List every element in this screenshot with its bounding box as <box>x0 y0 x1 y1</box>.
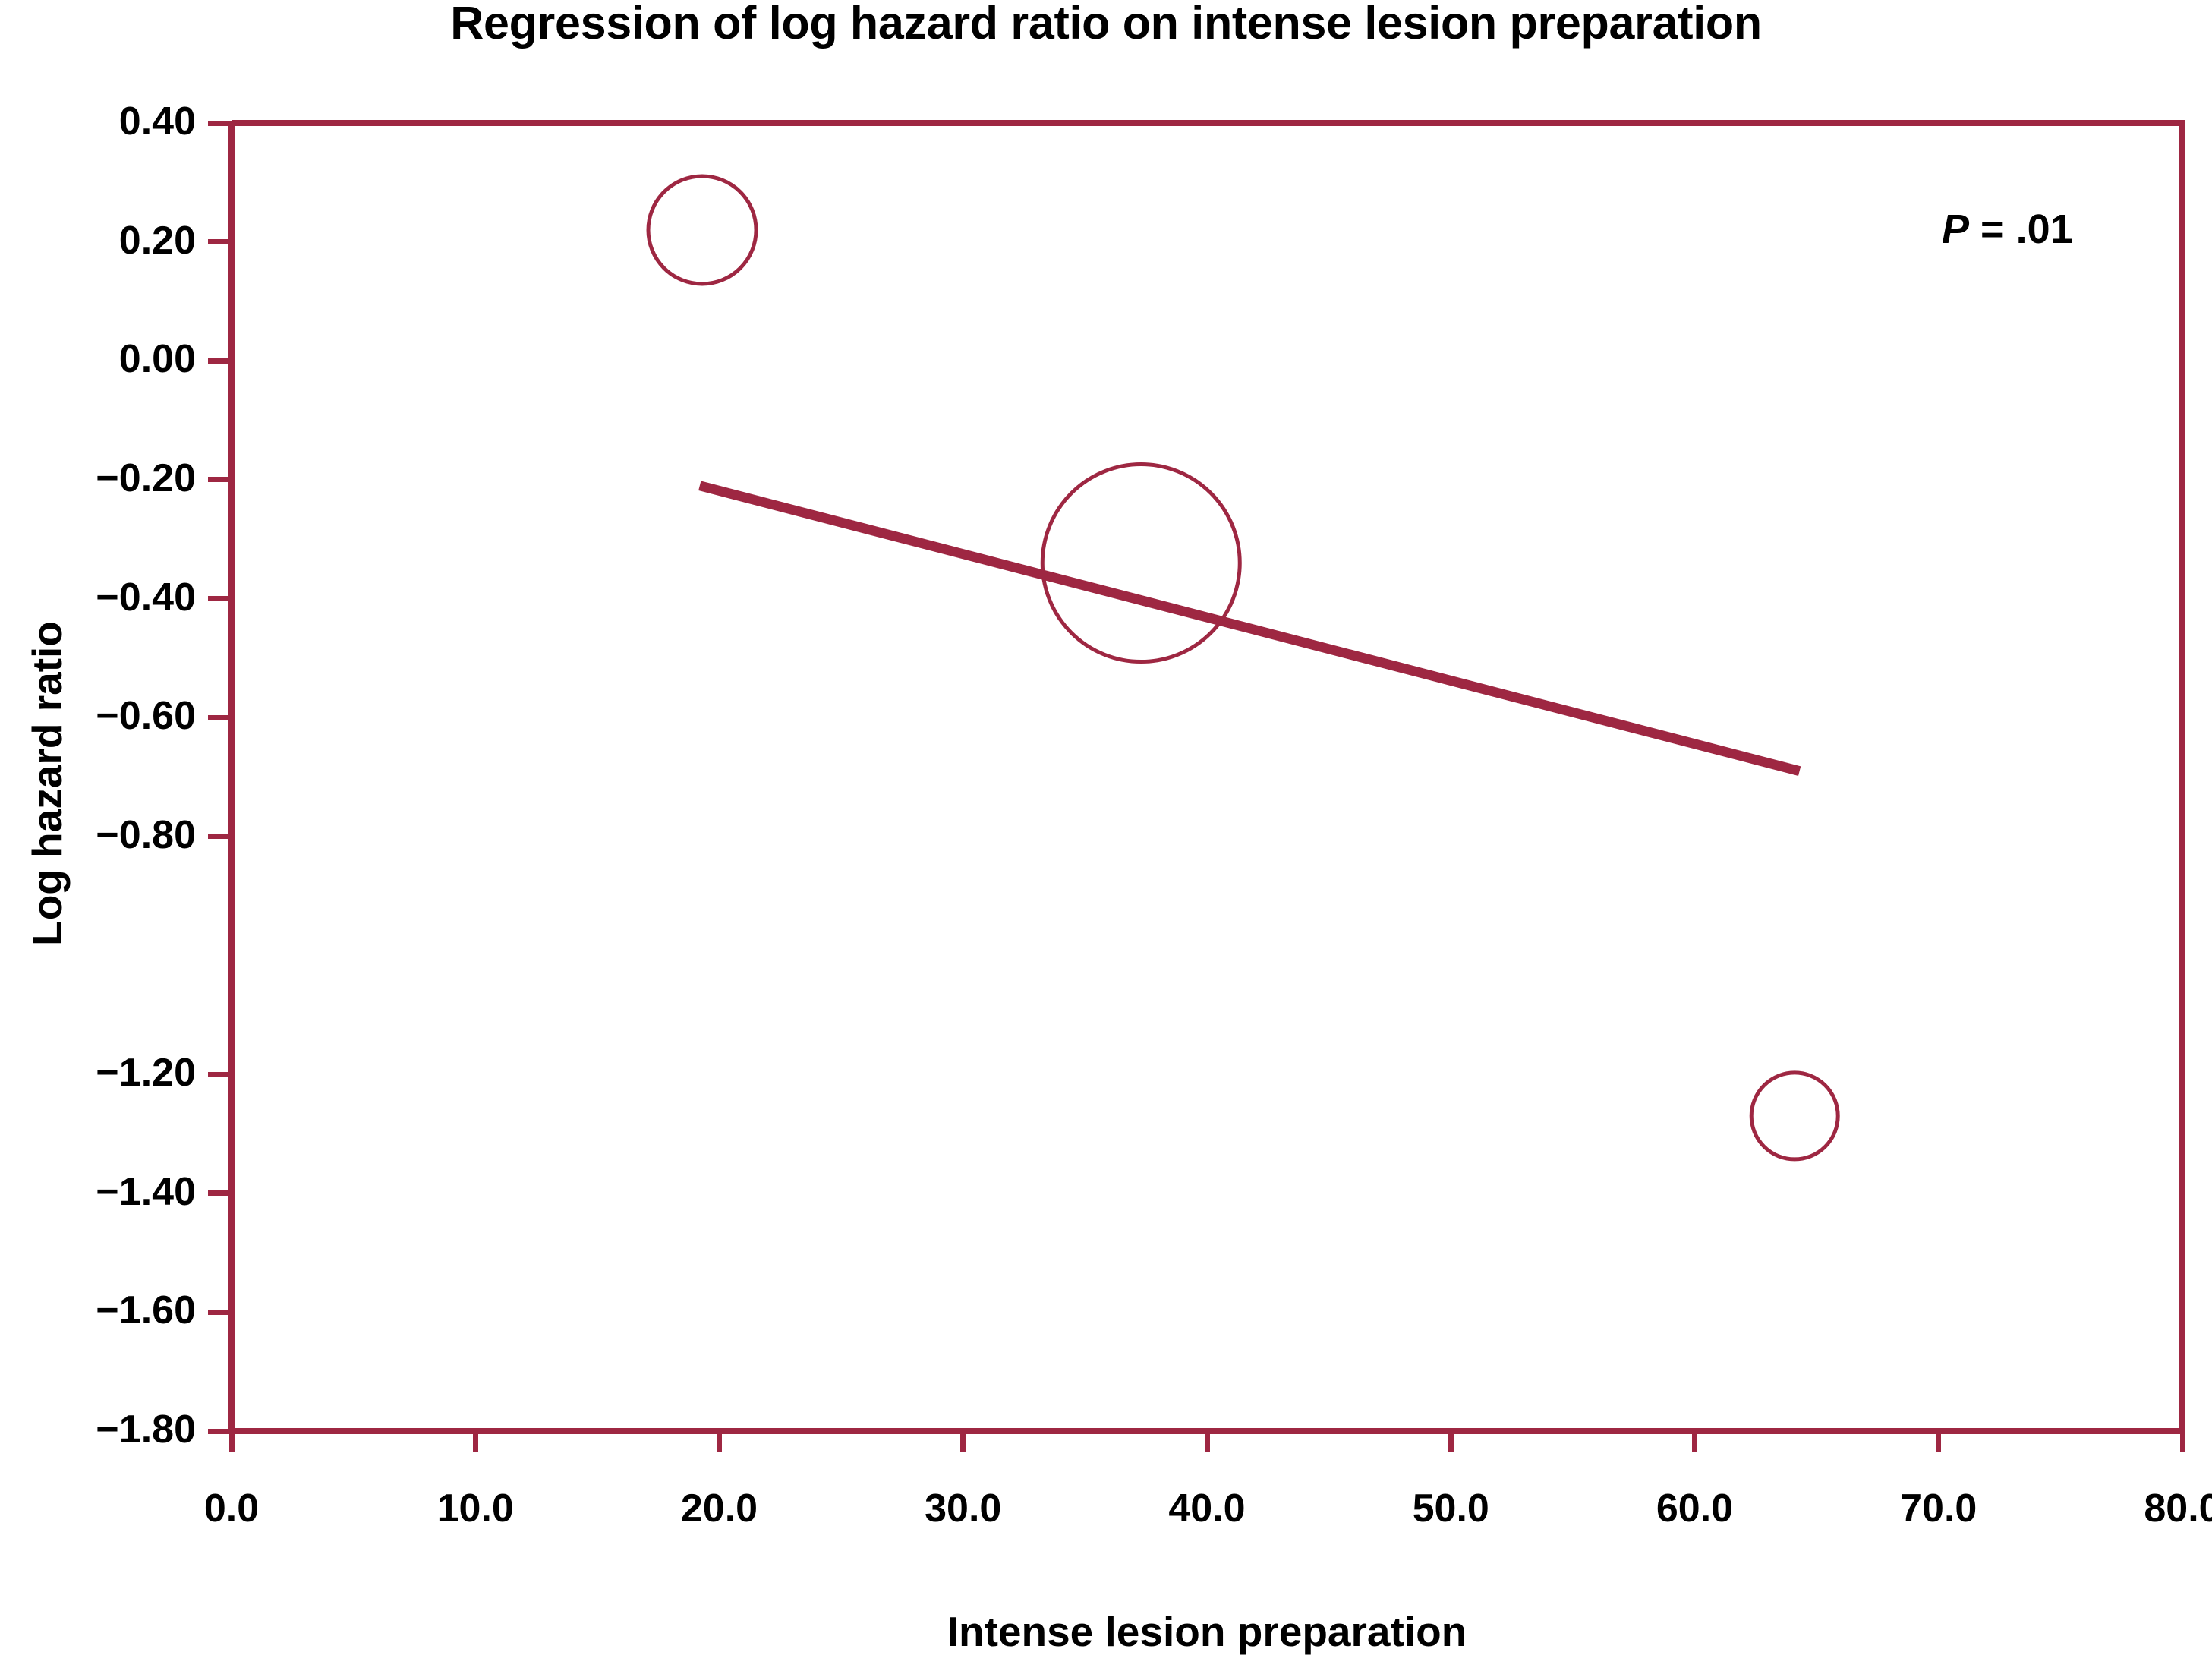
y-axis-tick-label: −1.80 <box>0 1407 196 1452</box>
y-axis-tick <box>208 121 232 126</box>
plot-area: 0.400.200.00−0.20−0.40−0.60−0.80−1.20−1.… <box>232 123 2182 1431</box>
regression-line <box>700 486 1800 771</box>
y-axis-tick-label: 0.40 <box>0 99 196 144</box>
x-axis-tick-label: 70.0 <box>1825 1486 2053 1531</box>
chart-title: Regression of log hazard ratio on intens… <box>0 0 2212 46</box>
y-axis-tick <box>208 1072 232 1077</box>
y-axis-tick <box>208 358 232 364</box>
y-axis-tick-label: 0.20 <box>0 218 196 263</box>
p-value-text: = .01 <box>1969 207 2073 252</box>
x-axis-tick-label: 60.0 <box>1581 1486 1809 1531</box>
y-axis-tick <box>208 1310 232 1315</box>
x-axis-tick <box>1205 1431 1210 1452</box>
x-axis-tick-label: 20.0 <box>606 1486 833 1531</box>
x-axis-tick <box>960 1431 966 1452</box>
x-axis-tick <box>1936 1431 1941 1452</box>
x-axis-tick <box>717 1431 722 1452</box>
y-axis-tick <box>208 834 232 839</box>
y-axis-tick <box>208 596 232 601</box>
p-value-annotation: P = .01 <box>1942 206 2073 253</box>
y-axis-tick <box>208 477 232 482</box>
x-axis-tick <box>229 1431 235 1452</box>
p-value-symbol: P <box>1942 207 1969 252</box>
data-bubble <box>648 176 756 284</box>
y-axis-tick <box>208 1190 232 1196</box>
x-axis-tick <box>473 1431 478 1452</box>
x-axis-tick-label: 10.0 <box>361 1486 589 1531</box>
x-axis-title: Intense lesion preparation <box>232 1607 2182 1656</box>
x-axis-tick-label: 40.0 <box>1093 1486 1321 1531</box>
x-axis-tick-label: 30.0 <box>849 1486 1077 1531</box>
x-axis-tick-label: 80.0 <box>2069 1486 2212 1531</box>
data-bubble <box>1042 465 1240 662</box>
y-axis-tick <box>208 1429 232 1434</box>
data-overlay <box>232 123 2182 1431</box>
y-axis-title: Log hazard ratio <box>23 336 71 1231</box>
y-axis-tick-label: −1.60 <box>0 1288 196 1333</box>
x-axis-tick-label: 50.0 <box>1337 1486 1564 1531</box>
y-axis-tick <box>208 239 232 244</box>
x-axis-tick <box>1692 1431 1697 1452</box>
data-bubble <box>1751 1073 1838 1159</box>
x-axis-tick-label: 0.0 <box>118 1486 345 1531</box>
chart-figure: Regression of log hazard ratio on intens… <box>0 0 2212 1671</box>
y-axis-tick <box>208 715 232 720</box>
x-axis-tick <box>2180 1431 2185 1452</box>
x-axis-tick <box>1448 1431 1454 1452</box>
